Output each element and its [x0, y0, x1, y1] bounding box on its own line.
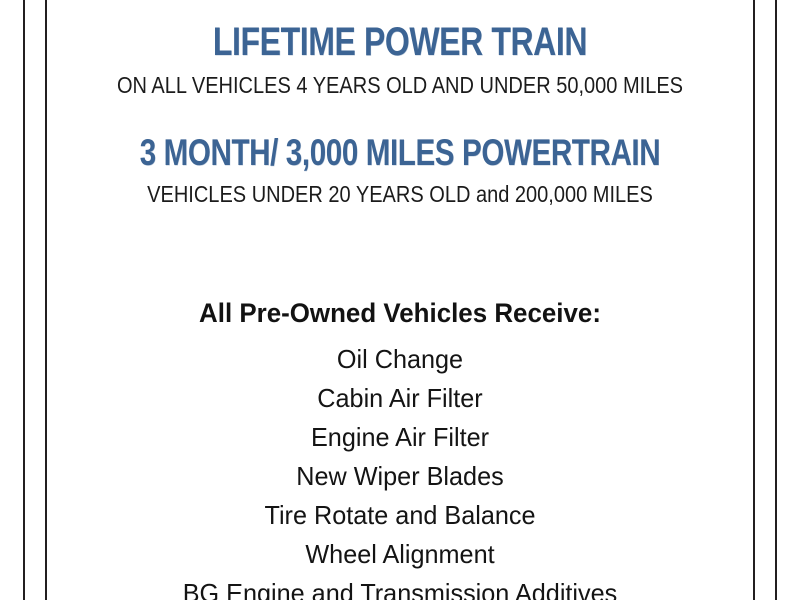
lifetime-powertrain-subline: ON ALL VEHICLES 4 YEARS OLD AND UNDER 50… — [93, 74, 707, 97]
warranty-block-three-month: 3 MONTH/ 3,000 MILES POWERTRAIN VEHICLES… — [47, 134, 753, 206]
flyer-page: LIFETIME POWER TRAIN ON ALL VEHICLES 4 Y… — [0, 0, 800, 600]
lifetime-powertrain-headline: LIFETIME POWER TRAIN — [118, 22, 683, 62]
service-list-item: Oil Change — [58, 340, 743, 379]
three-month-powertrain-headline: 3 MONTH/ 3,000 MILES POWERTRAIN — [118, 134, 683, 171]
service-list-item: Engine Air Filter — [58, 418, 743, 457]
flyer-content: LIFETIME POWER TRAIN ON ALL VEHICLES 4 Y… — [47, 0, 753, 600]
left-outer-rule — [23, 0, 25, 600]
service-list-item: Tire Rotate and Balance — [58, 496, 743, 535]
services-heading: All Pre-Owned Vehicles Receive: — [61, 300, 739, 327]
services-list: Oil Change Cabin Air Filter Engine Air F… — [47, 340, 753, 600]
right-inner-rule — [753, 0, 755, 600]
service-list-item: New Wiper Blades — [58, 457, 743, 496]
service-list-item: Wheel Alignment — [58, 535, 743, 574]
service-list-item: BG Engine and Transmission Additives — [58, 574, 743, 600]
right-outer-rule — [775, 0, 777, 600]
warranty-block-lifetime: LIFETIME POWER TRAIN ON ALL VEHICLES 4 Y… — [47, 22, 753, 97]
services-section: All Pre-Owned Vehicles Receive: Oil Chan… — [47, 300, 753, 600]
service-list-item: Cabin Air Filter — [58, 379, 743, 418]
three-month-powertrain-subline: VEHICLES UNDER 20 YEARS OLD and 200,000 … — [93, 183, 707, 206]
